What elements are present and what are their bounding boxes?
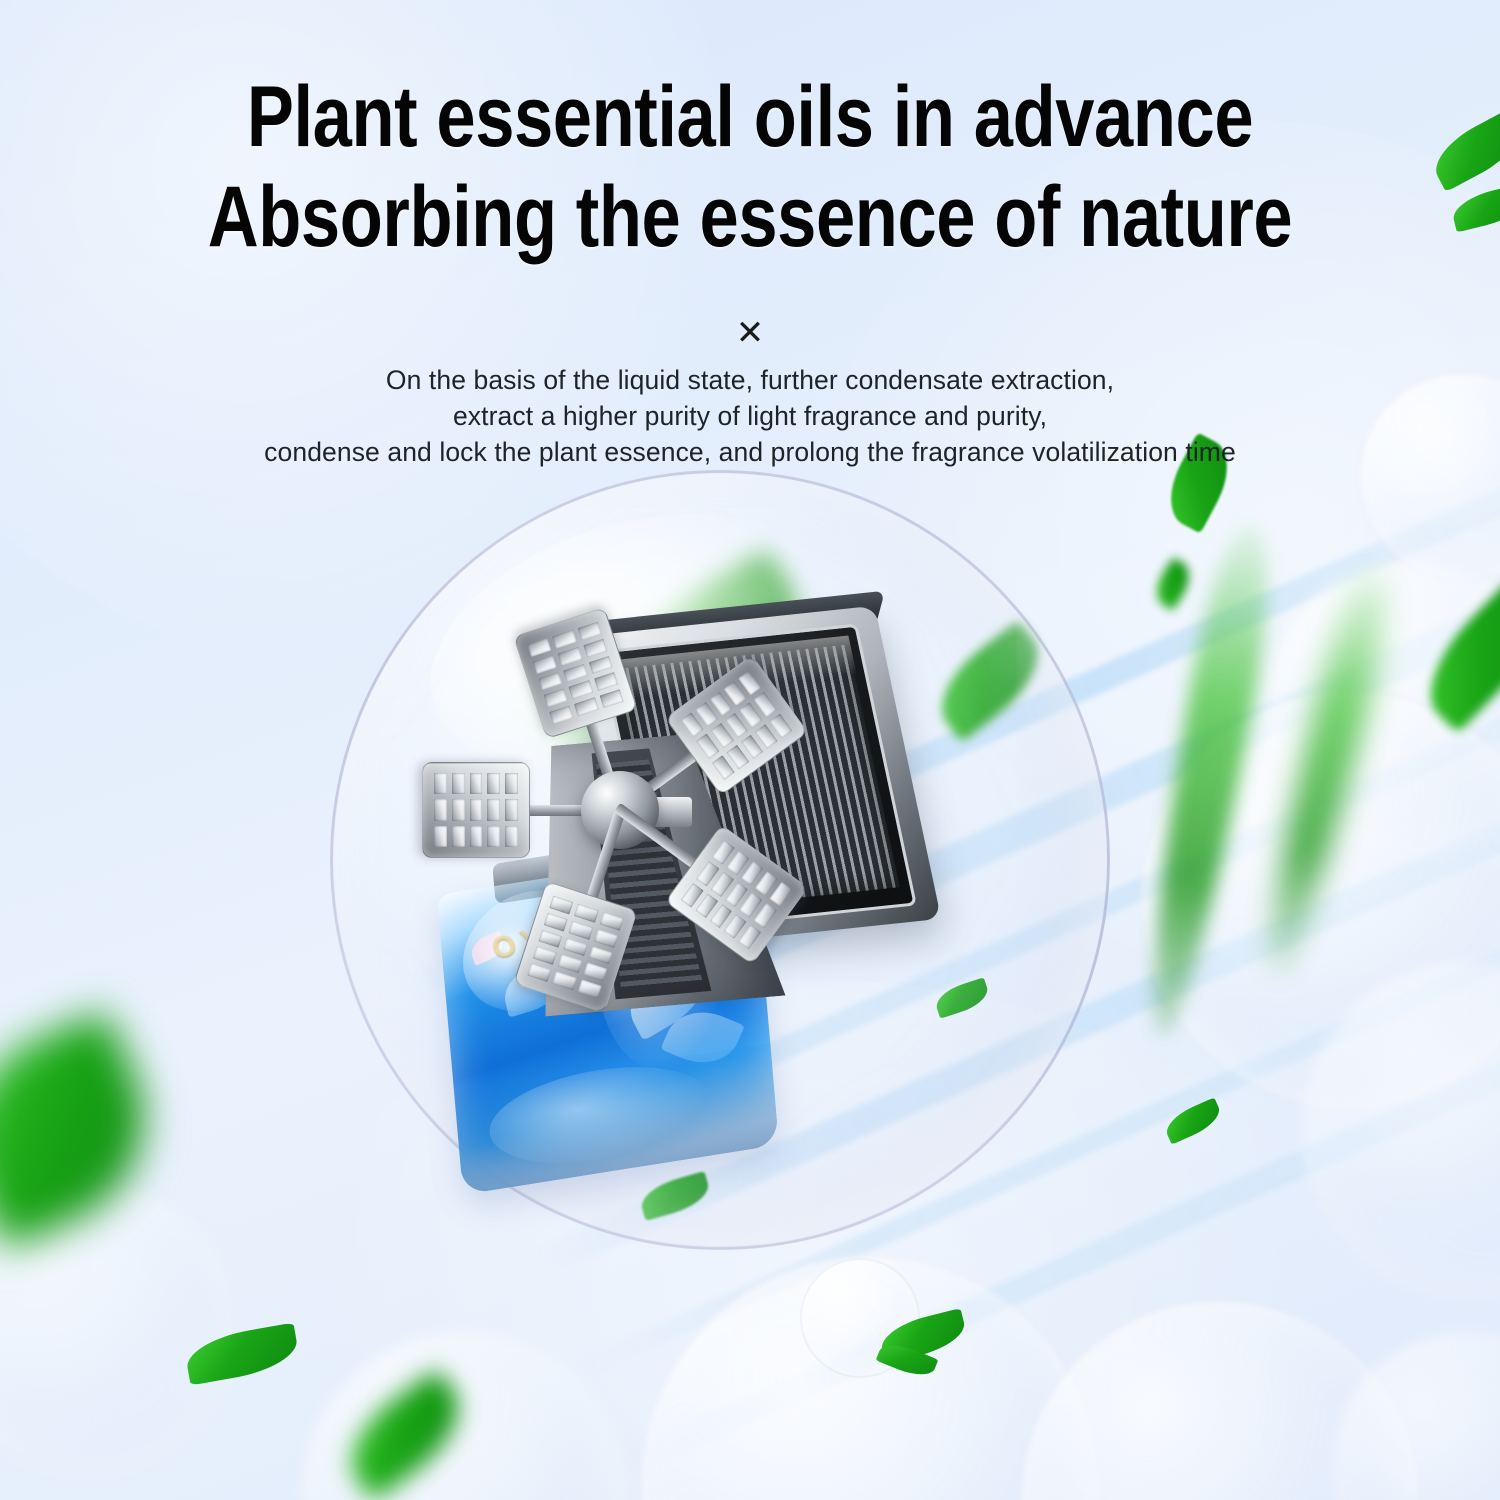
blade-panel-cell <box>538 929 562 948</box>
blade-panel-cell <box>599 912 623 931</box>
blade-panel-cell <box>470 773 483 794</box>
headline-line-2: Absorbing the essence of nature <box>135 174 1365 260</box>
blade-panel-cell <box>505 773 518 794</box>
blade-panel-cell <box>505 799 518 820</box>
blade-panel-cell <box>452 799 465 820</box>
blade-panel-cell <box>563 938 587 957</box>
blade-panel <box>513 881 638 1013</box>
blade-panel-cell <box>487 799 500 820</box>
bubble-right-lower <box>1300 960 1500 1300</box>
blade-panel-cell <box>552 630 576 649</box>
blade-panel-cell <box>588 946 612 965</box>
blade-panel-cell <box>505 826 518 847</box>
blade-panel-cell <box>569 921 593 940</box>
product-image: OYX <box>330 470 1140 1290</box>
description-line-3: condense and lock the plant essence, and… <box>0 434 1500 470</box>
blade-panel-cell <box>558 647 582 666</box>
blade-panel-cell <box>594 672 618 691</box>
blade-panel-cell <box>434 826 447 847</box>
blade-panel <box>422 762 530 858</box>
blade-panel-cell <box>527 638 551 657</box>
blade-panel-cell <box>470 799 483 820</box>
blade-panel-cell <box>544 689 568 708</box>
bubble-bottom-left <box>300 1330 630 1500</box>
promo-banner: OYX Plant essential oils in advance <box>0 0 1500 1500</box>
grass-blade-right-2 <box>1250 560 1402 980</box>
blade-panel-cell <box>569 681 593 700</box>
leaf-bottom-left-blur <box>0 1009 178 1251</box>
page-title: Plant essential oils in advance Absorbin… <box>0 74 1500 260</box>
bubble-bottom-center <box>640 1255 1100 1500</box>
blade-panel-cell <box>599 689 623 708</box>
x-divider-icon: ✕ <box>0 316 1500 350</box>
blade-panel-cell <box>527 963 551 982</box>
leaf-bottom-left <box>183 1323 301 1386</box>
leaf-bottom-center-b <box>876 1338 939 1382</box>
blade-panel-cell <box>452 826 465 847</box>
blade-panel-cell <box>549 706 573 725</box>
blade-panel <box>513 607 638 739</box>
blade-panel-cell <box>538 672 562 691</box>
blade-panel-cell <box>588 656 612 675</box>
blade-panel-cell <box>549 896 573 915</box>
blade-panel-cell <box>583 963 607 982</box>
bubble-far-right-bottom <box>1330 1330 1500 1500</box>
bubble-bottom-right <box>1020 1300 1420 1500</box>
blade-panel-cell <box>533 655 557 674</box>
blade-panel <box>665 824 809 965</box>
blade-panel-cell <box>434 799 447 820</box>
blade-panel-cell <box>487 773 500 794</box>
blade-panel <box>665 655 809 796</box>
bubble-left-lower <box>0 1180 240 1480</box>
blade-panel-cell <box>434 773 447 794</box>
blade-panel-cell <box>563 664 587 683</box>
bubble-right-mid <box>1140 690 1500 1110</box>
grass-blade-right-tall <box>1130 518 1283 1041</box>
blade-panel-cell <box>574 698 598 717</box>
blade-panel-cell <box>574 904 598 923</box>
description-line-2: extract a higher purity of light fragran… <box>0 398 1500 434</box>
blade-panel-cell <box>470 826 483 847</box>
blade-panel-cell <box>577 980 601 999</box>
description-text: On the basis of the liquid state, furthe… <box>0 362 1500 470</box>
blade-panel-cell <box>594 929 618 948</box>
leaf-right-small <box>1149 557 1197 611</box>
leaf-bottom-far-left <box>332 1368 478 1500</box>
blade-panel-cell <box>583 639 607 658</box>
leaf-right-leafblade <box>1408 577 1500 734</box>
description-line-1: On the basis of the liquid state, furthe… <box>0 362 1500 398</box>
windmill-rotor <box>400 590 840 1030</box>
headline-line-1: Plant essential oils in advance <box>135 74 1365 160</box>
bubble-right-upper <box>1262 560 1500 860</box>
blade-panel-cell <box>533 946 557 965</box>
blade-panel-cell <box>452 773 465 794</box>
leaf-bottom-center-a <box>877 1308 969 1364</box>
blade-panel-cell <box>558 954 582 973</box>
blade-panel-cell <box>577 622 601 641</box>
blade-panel-cell <box>544 913 568 932</box>
blade-panel-cell <box>487 826 500 847</box>
blade-panel-cell <box>552 971 576 990</box>
leaf-right-low <box>1161 1097 1225 1144</box>
